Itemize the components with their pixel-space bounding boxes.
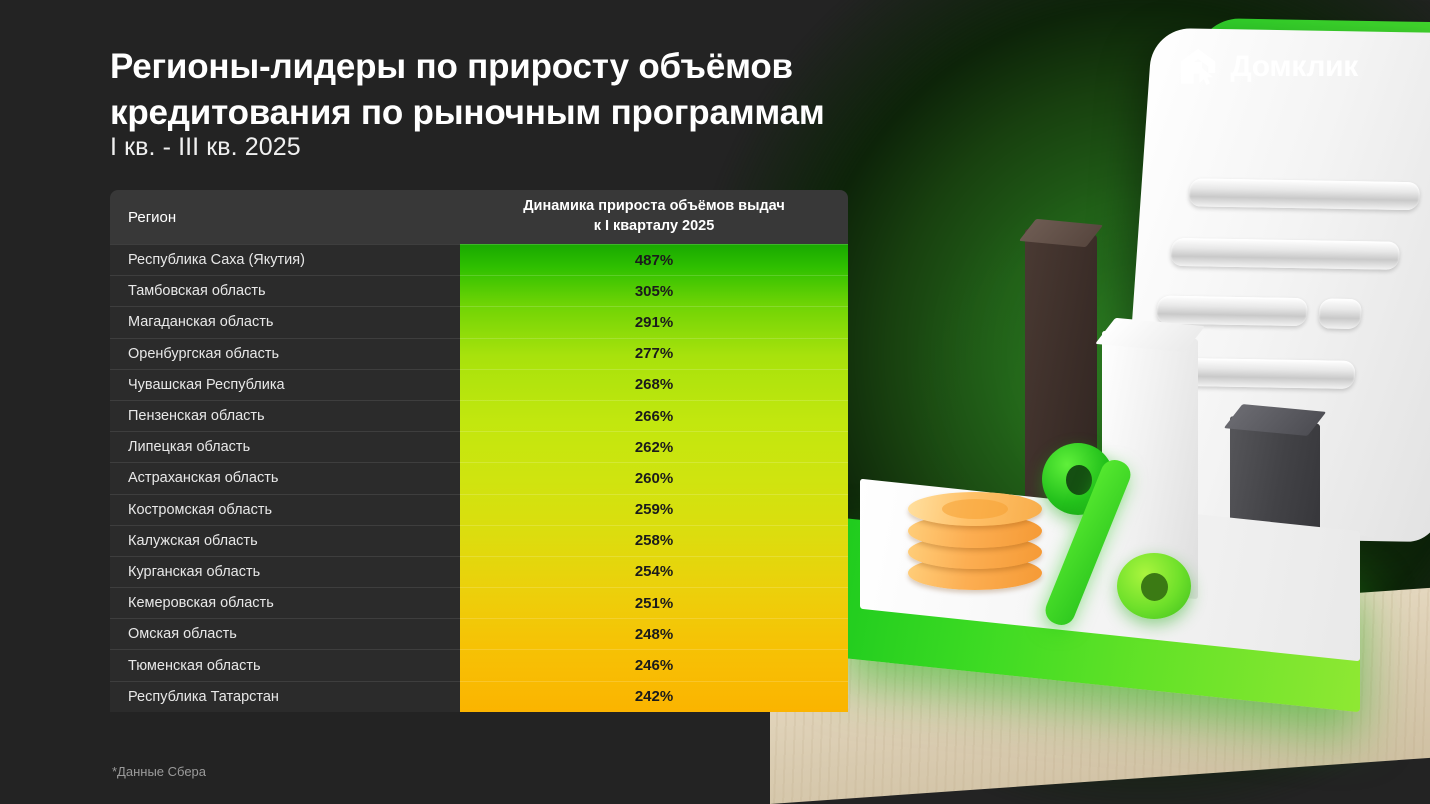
- cell-value: 251%: [460, 587, 848, 618]
- table-row: Астраханская область260%: [110, 462, 848, 493]
- white-document-card: [1117, 28, 1430, 542]
- coin-stack-item: [908, 556, 1042, 590]
- page-title-line-2: кредитования по рыночным программам: [110, 90, 1030, 136]
- card-bar-5: [1184, 358, 1356, 389]
- cell-value-text: 251%: [635, 595, 673, 612]
- cell-value: 266%: [460, 400, 848, 431]
- cell-region: Республика Татарстан: [110, 681, 460, 712]
- cell-value-text: 248%: [635, 626, 673, 643]
- table-row: Калужская область258%: [110, 525, 848, 556]
- cell-region: Курганская область: [110, 556, 460, 587]
- cell-value-text: 258%: [635, 532, 673, 549]
- table-row: Кемеровская область251%: [110, 587, 848, 618]
- cell-value-text: 487%: [635, 252, 673, 269]
- cell-value-text: 291%: [635, 314, 673, 331]
- cell-value: 262%: [460, 431, 848, 462]
- cell-value-text: 277%: [635, 345, 673, 362]
- column-header-value-line-2: к I кварталу 2025: [594, 217, 715, 237]
- column-header-value-line-1: Динамика прироста объёмов выдач: [523, 197, 785, 217]
- coin-stack-top: [908, 492, 1042, 526]
- infographic-canvas: Регионы-лидеры по приросту объёмов креди…: [0, 0, 1430, 804]
- cell-region: Калужская область: [110, 525, 460, 556]
- regions-table: Регион Динамика прироста объёмов выдач к…: [110, 190, 848, 712]
- table-row: Магаданская область291%: [110, 306, 848, 337]
- cell-value: 242%: [460, 681, 848, 712]
- cell-value-text: 268%: [635, 376, 673, 393]
- cell-region: Костромская область: [110, 494, 460, 525]
- footnote: *Данные Сбера: [112, 764, 206, 779]
- wooden-base: [770, 585, 1430, 804]
- green-card-backing: [1164, 18, 1430, 522]
- cell-value: 260%: [460, 462, 848, 493]
- domclick-logo[interactable]: Домклик: [1177, 46, 1358, 88]
- column-header-value: Динамика прироста объёмов выдач к I квар…: [460, 190, 848, 244]
- cell-value: 487%: [460, 244, 848, 275]
- column-header-region: Регион: [110, 190, 460, 244]
- cell-value: 254%: [460, 556, 848, 587]
- table-row: Пензенская область266%: [110, 400, 848, 431]
- cell-region: Тамбовская область: [110, 275, 460, 306]
- house-cursor-icon: [1177, 46, 1219, 88]
- cell-region: Пензенская область: [110, 400, 460, 431]
- coin-stack-item: [908, 514, 1042, 548]
- table-row: Чувашская Республика268%: [110, 369, 848, 400]
- cell-value: 248%: [460, 618, 848, 649]
- table-header-row: Регион Динамика прироста объёмов выдач к…: [110, 190, 848, 244]
- page-subtitle: I кв. - III кв. 2025: [110, 133, 301, 162]
- cell-value: 246%: [460, 649, 848, 680]
- card-bar-1: [1188, 178, 1420, 210]
- cell-value-text: 260%: [635, 470, 673, 487]
- cell-value: 277%: [460, 338, 848, 369]
- table-row: Республика Татарстан242%: [110, 681, 848, 712]
- cell-region: Республика Саха (Якутия): [110, 244, 460, 275]
- card-bar-4: [1318, 298, 1362, 329]
- percent-ring-top-icon: [1042, 443, 1114, 515]
- cell-value-text: 262%: [635, 439, 673, 456]
- background-green-glow-inner: [810, 120, 1430, 680]
- cell-value-text: 242%: [635, 688, 673, 705]
- card-bar-2: [1170, 238, 1400, 270]
- table-row: Республика Саха (Якутия)487%: [110, 244, 848, 275]
- dark-gray-block: [1230, 416, 1320, 604]
- cell-value: 305%: [460, 275, 848, 306]
- cell-value-text: 246%: [635, 657, 673, 674]
- green-slab-side: [840, 598, 1360, 689]
- cell-value: 291%: [460, 306, 848, 337]
- white-platform-side: [860, 554, 1360, 635]
- percent-ring-bottom-icon: [1117, 553, 1191, 619]
- table-row: Тамбовская область305%: [110, 275, 848, 306]
- dark-brown-block: [1025, 229, 1097, 565]
- percent-slash-icon: [1041, 456, 1134, 629]
- page-title-line-1: Регионы-лидеры по приросту объёмов: [110, 44, 1030, 90]
- cell-value-text: 254%: [635, 563, 673, 580]
- cell-region: Тюменская область: [110, 649, 460, 680]
- table-row: Омская область248%: [110, 618, 848, 649]
- green-slab: [840, 518, 1360, 713]
- cell-value: 258%: [460, 525, 848, 556]
- cell-value: 268%: [460, 369, 848, 400]
- cell-value-text: 305%: [635, 283, 673, 300]
- cell-region: Омская область: [110, 618, 460, 649]
- cell-region: Магаданская область: [110, 306, 460, 337]
- cell-region: Липецкая область: [110, 431, 460, 462]
- cell-region: Кемеровская область: [110, 587, 460, 618]
- cell-value: 259%: [460, 494, 848, 525]
- white-platform: [860, 479, 1360, 662]
- table-row: Курганская область254%: [110, 556, 848, 587]
- page-title: Регионы-лидеры по приросту объёмов креди…: [110, 44, 1030, 135]
- table-row: Липецкая область262%: [110, 431, 848, 462]
- table-row: Костромская область259%: [110, 494, 848, 525]
- dark-gray-block-top: [1224, 404, 1327, 436]
- table-row: Тюменская область246%: [110, 649, 848, 680]
- white-block-top: [1095, 318, 1205, 352]
- card-bar-3: [1156, 296, 1308, 327]
- coin-stack-item: [908, 535, 1042, 569]
- cell-value-text: 266%: [635, 408, 673, 425]
- table-body: Республика Саха (Якутия)487%Тамбовская о…: [110, 244, 848, 712]
- cell-region: Астраханская область: [110, 462, 460, 493]
- dark-brown-block-top: [1019, 219, 1103, 247]
- cell-region: Чувашская Республика: [110, 369, 460, 400]
- cell-value-text: 259%: [635, 501, 673, 518]
- logo-text: Домклик: [1230, 50, 1358, 84]
- table-row: Оренбургская область277%: [110, 338, 848, 369]
- white-block: [1102, 331, 1198, 599]
- cell-region: Оренбургская область: [110, 338, 460, 369]
